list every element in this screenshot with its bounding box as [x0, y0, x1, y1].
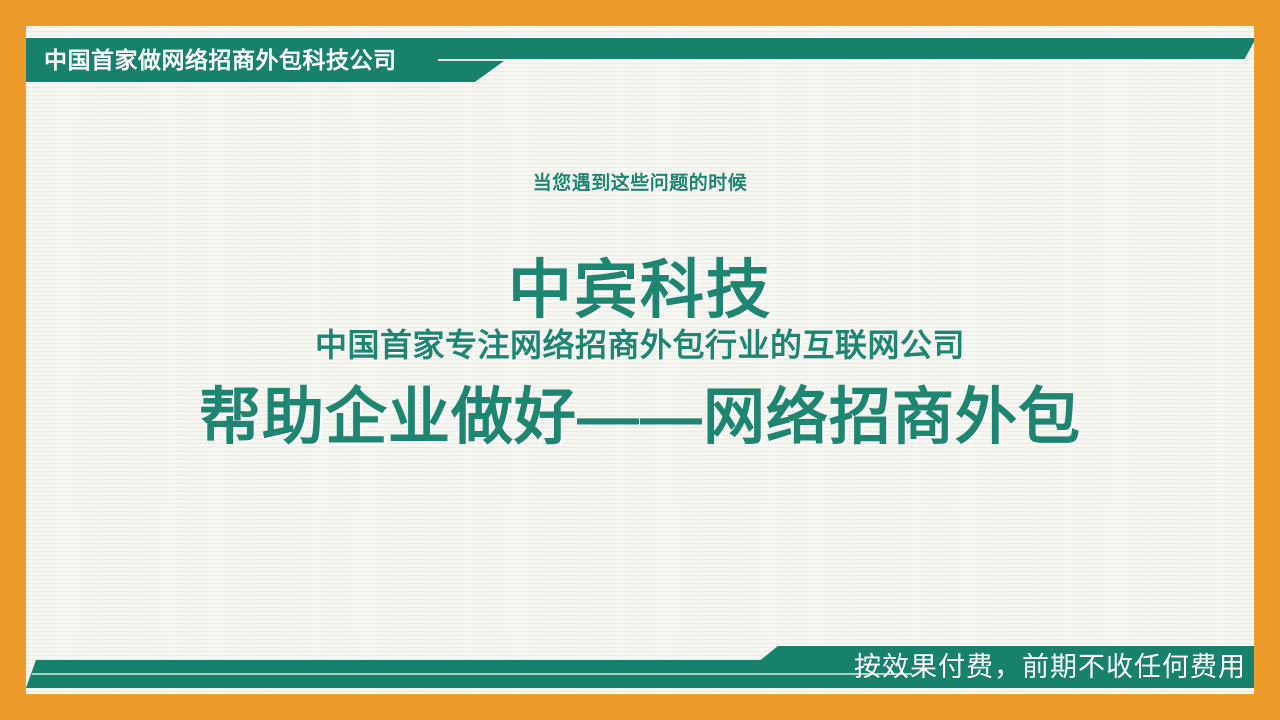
main-headline: 帮助企业做好——网络招商外包 — [26, 366, 1254, 456]
header-title: 中国首家做网络招商外包科技公司 — [44, 44, 397, 76]
brand-title: 中宾科技 — [26, 254, 1254, 326]
brand-subtitle: 中国首家专注网络招商外包行业的互联网公司 — [26, 320, 1254, 366]
footer-tagline: 按效果付费，前期不收任何费用 — [726, 650, 1254, 684]
eyebrow-text: 当您遇到这些问题的时候 — [26, 168, 1254, 195]
slide-page-background: 中国首家做网络招商外包科技公司 当您遇到这些问题的时候 中宾科技 中国首家专注网… — [26, 26, 1254, 694]
slide-canvas: 中国首家做网络招商外包科技公司 当您遇到这些问题的时候 中宾科技 中国首家专注网… — [0, 0, 1280, 720]
